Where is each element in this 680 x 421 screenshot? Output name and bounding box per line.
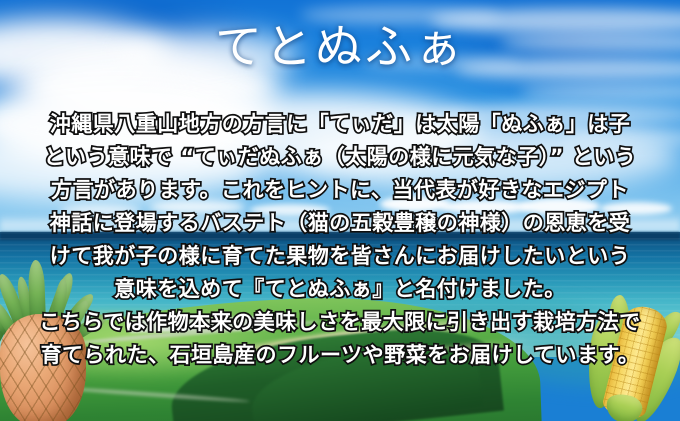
description-line: 育てられた、石垣島産のフルーツや野菜をお届けしています。: [0, 339, 680, 372]
banner: てとぬふぁ 沖縄県八重山地方の方言に「てぃだ」は太陽「ぬふぁ」は子 という意味で…: [0, 0, 680, 421]
description-text: 沖縄県八重山地方の方言に「てぃだ」は太陽「ぬふぁ」は子 という意味で “てぃだぬ…: [0, 108, 680, 372]
page-title: てとぬふぁ: [0, 24, 680, 71]
description-line: 沖縄県八重山地方の方言に「てぃだ」は太陽「ぬふぁ」は子: [0, 108, 680, 141]
description-line: 方言があります。これをヒントに、当代表が好きなエジプト: [0, 174, 680, 207]
description-line: 神話に登場するバステト（猫の五穀豊穣の神様）の恩恵を受: [0, 207, 680, 240]
description-line: という意味で “てぃだぬふぁ（太陽の様に元気な子）” という: [0, 141, 680, 174]
description-line: こちらでは作物本来の美味しさを最大限に引き出す栽培方法で: [0, 306, 680, 339]
description-line: 意味を込めて『てとぬふぁ』と名付けました。: [0, 273, 680, 306]
description-line: けて我が子の様に育てた果物を皆さんにお届けしたいという: [0, 240, 680, 273]
